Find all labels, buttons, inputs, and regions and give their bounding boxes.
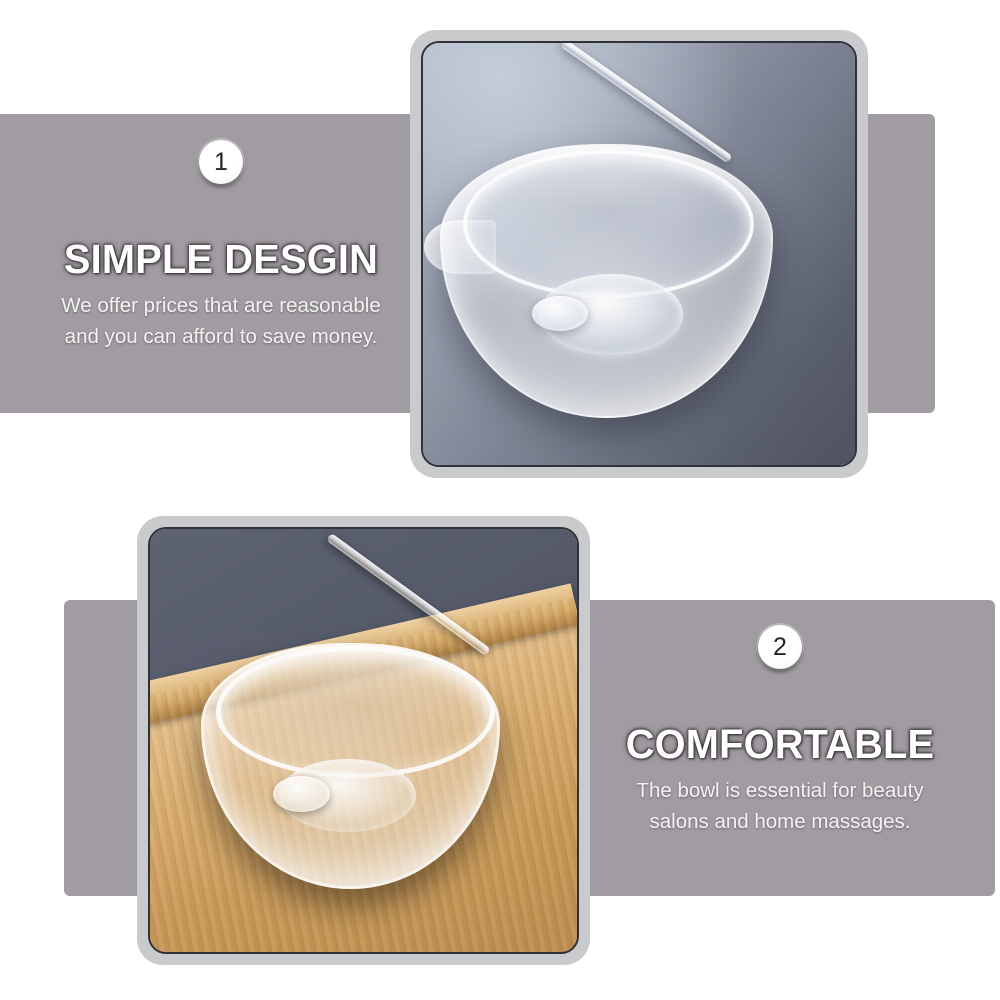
infographic-page: 1 SIMPLE DESGIN We offer prices that are… (0, 0, 1000, 1000)
glass-bowl-1 (440, 144, 768, 414)
step-badge-1: 1 (199, 140, 243, 184)
stirring-stick-2-tip (273, 776, 330, 813)
stirring-stick-1-tip (532, 296, 588, 331)
product-photo-card-1 (410, 30, 868, 478)
product-photo-card-2 (137, 516, 590, 965)
feature-description-2-line-1: The bowl is essential for beauty (600, 775, 960, 806)
feature-description-2-line-2: salons and home massages. (600, 806, 960, 837)
glass-bowl-2 (201, 643, 500, 888)
feature-description-1-line-1: We offer prices that are reasonable (26, 290, 416, 321)
step-badge-2: 2 (758, 625, 802, 669)
product-photo-2 (148, 527, 579, 954)
product-photo-1 (421, 41, 857, 467)
feature-title-1: SIMPLE DESGIN (32, 238, 410, 281)
feature-description-1-line-2: and you can afford to save money. (26, 321, 416, 352)
feature-text-2: 2 COMFORTABLE The bowl is essential for … (600, 625, 960, 837)
feature-text-1: 1 SIMPLE DESGIN We offer prices that are… (26, 140, 416, 352)
feature-title-2: COMFORTABLE (605, 723, 954, 766)
